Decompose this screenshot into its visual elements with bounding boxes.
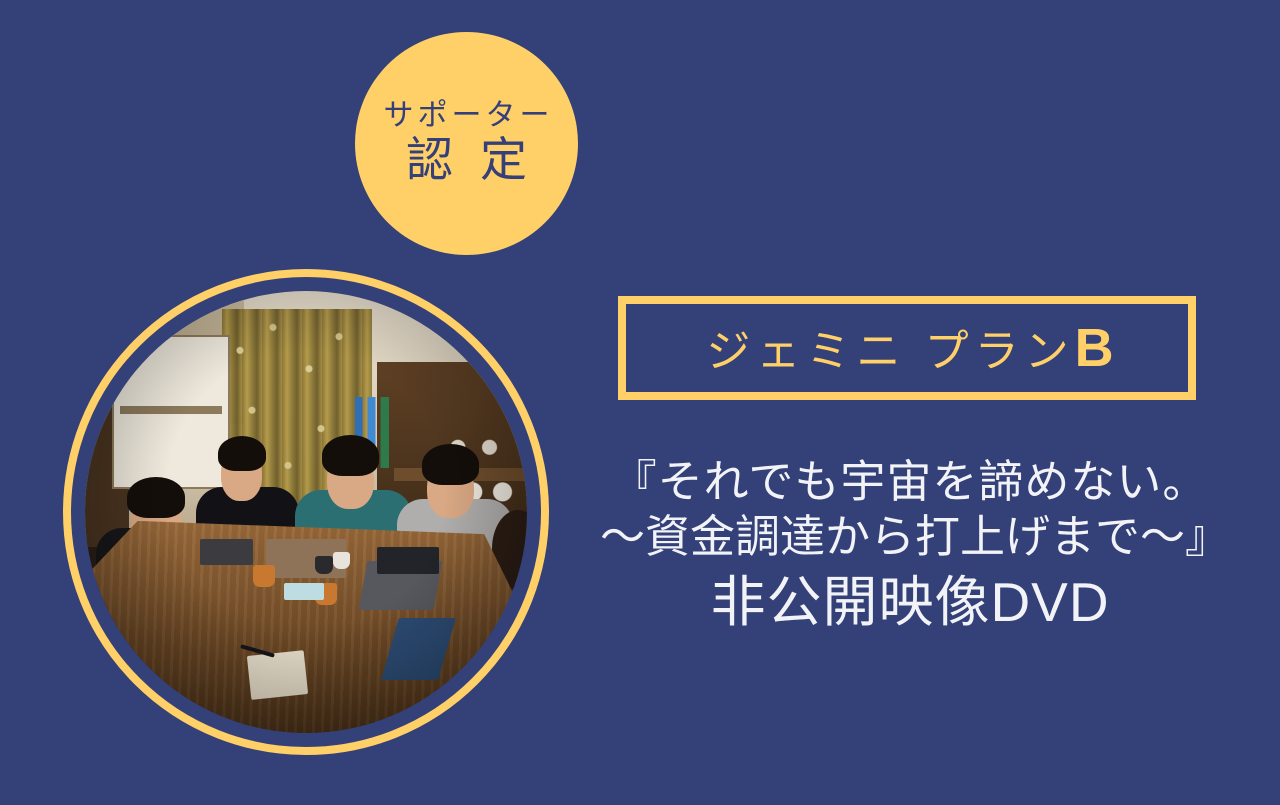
badge-label-supporter: サポーター: [380, 100, 554, 132]
plan-name-box: ジェミニ プランB: [618, 296, 1196, 400]
photo-vignette: [85, 291, 527, 733]
plan-title-suffix: B: [1075, 318, 1114, 378]
reward-description: 『それでも宇宙を諦めない。 ～資金調達から打上げまで～』 非公開映像DVD: [600, 455, 1220, 636]
description-line-1: 『それでも宇宙を諦めない。: [600, 455, 1220, 510]
team-meeting-photo: [85, 291, 527, 733]
photo-scene: [85, 291, 527, 733]
supporter-badge: サポーター 認 定: [355, 32, 578, 255]
badge-label-certified: 認 定: [399, 134, 534, 187]
description-line-3: 非公開映像DVD: [600, 569, 1220, 636]
plan-title-text: ジェミニ プラン: [706, 327, 1074, 376]
description-line-2: ～資金調達から打上げまで～』: [600, 510, 1220, 565]
plan-title: ジェミニ プランB: [700, 321, 1113, 375]
reward-card: サポーター 認 定: [0, 0, 1280, 805]
